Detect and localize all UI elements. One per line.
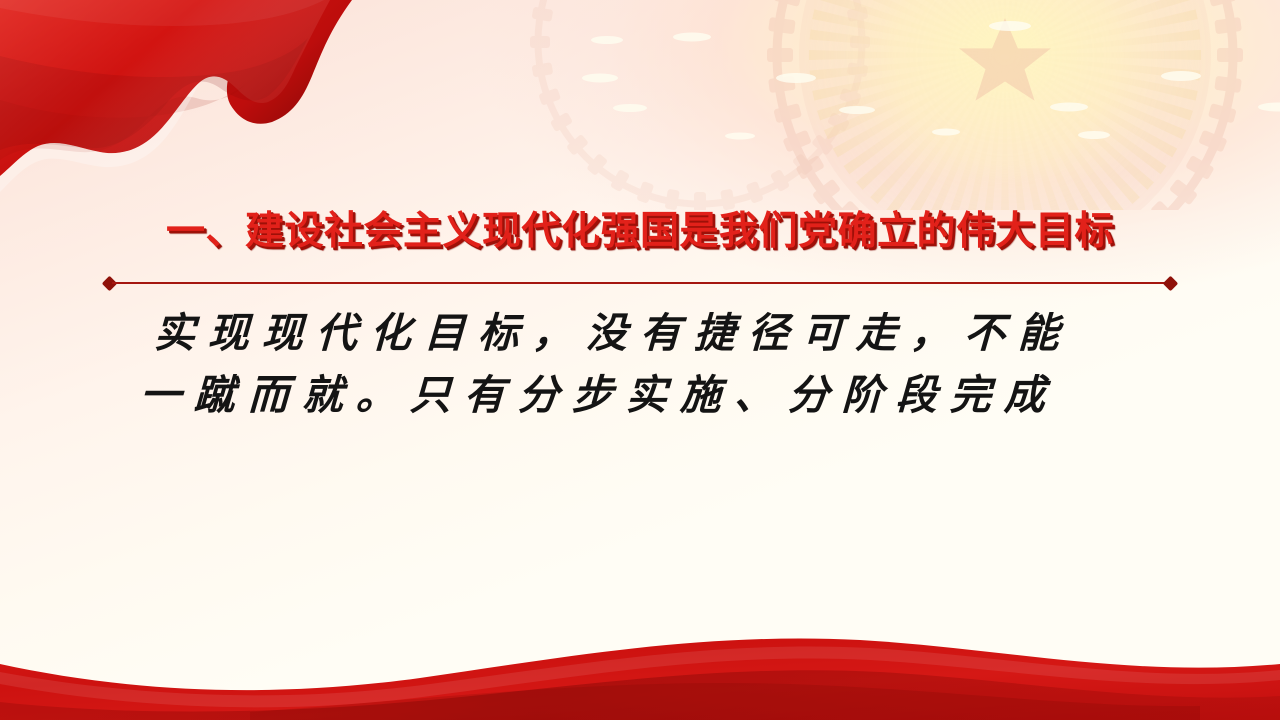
slide-canvas: 一、建设社会主义现代化强国是我们党确立的伟大目标 实现现代化目标，没有捷径可走，…	[0, 0, 1280, 720]
gear-cog-ring-secondary	[530, 0, 870, 212]
title-divider	[104, 277, 1176, 289]
page-title: 一、建设社会主义现代化强国是我们党确立的伟大目标	[166, 206, 1114, 258]
light-flecks	[582, 21, 1280, 140]
page-title-container: 一、建设社会主义现代化强国是我们党确立的伟大目标	[0, 206, 1280, 264]
diamond-marker-right-icon	[1163, 276, 1179, 292]
divider-line	[112, 282, 1168, 284]
body-text-line-2: 一蹴而就。只有分步实施、分阶段完成	[139, 364, 1141, 426]
body-text-block: 实现现代化目标，没有捷径可走，不能 一蹴而就。只有分步实施、分阶段完成	[140, 302, 1140, 426]
body-text-line-1: 实现现代化目标，没有捷径可走，不能	[139, 302, 1141, 364]
five-pointed-star	[959, 18, 1051, 101]
